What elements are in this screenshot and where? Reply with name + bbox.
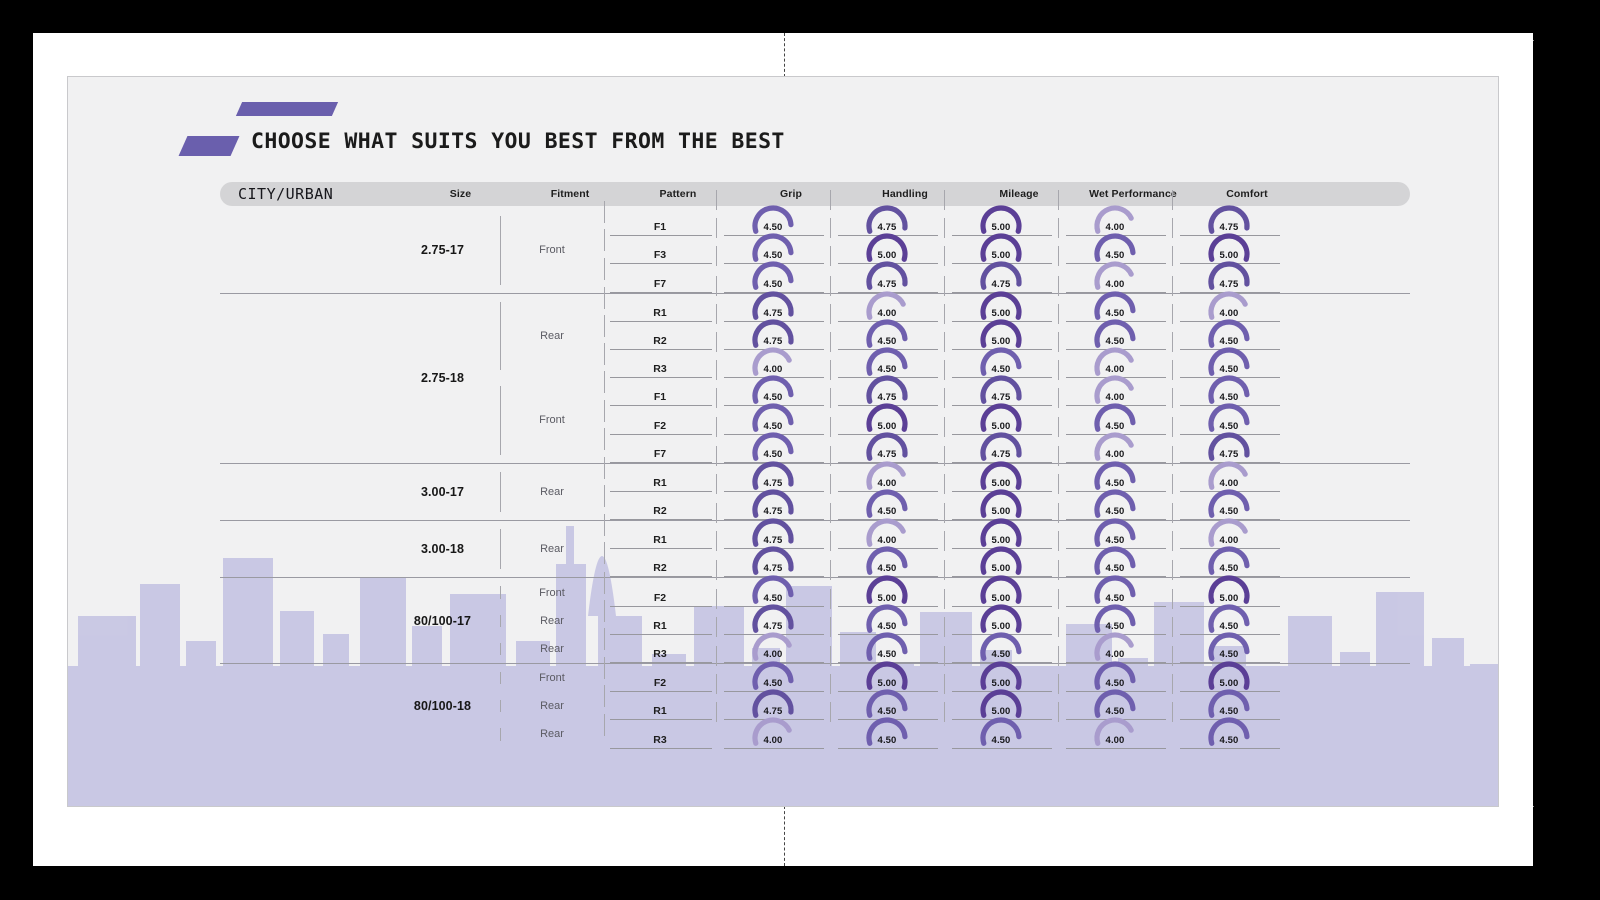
pattern-rows: F14.504.754.754.004.50F24.505.005.004.50… (604, 378, 1410, 463)
page-title: CHOOSE WHAT SUITS YOU BEST FROM THE BEST (251, 129, 785, 154)
pattern-label: F2 (604, 677, 716, 692)
pattern-text: F2 (654, 677, 666, 689)
size-group: 3.00-18RearR14.754.005.004.504.00R24.754… (220, 521, 1410, 577)
fitment-label: Front (500, 664, 604, 692)
pattern-label: F1 (604, 221, 716, 236)
fitment-group: RearR34.004.504.504.004.50 (500, 635, 1410, 663)
screenshot-stage: CHOOSE WHAT SUITS YOU BEST FROM THE BEST… (0, 0, 1600, 900)
score-cell-comfort: 4.50 (1172, 720, 1286, 748)
pattern-text: F2 (654, 592, 666, 604)
size-label: 3.00-18 (385, 542, 500, 556)
pattern-rows: F14.504.755.004.004.75F34.505.005.004.50… (604, 208, 1410, 293)
pattern-label: F1 (604, 391, 716, 406)
category-badge: CITY/URBAN (220, 185, 403, 203)
fitment-group: RearR14.754.005.004.504.00R24.754.505.00… (500, 294, 1410, 379)
pattern-text: R3 (653, 734, 666, 746)
fitment-label: Front (500, 378, 604, 463)
pattern-label: F2 (604, 592, 716, 607)
table-row[interactable]: R34.004.504.504.004.50 (604, 720, 1410, 748)
pattern-rows: R14.754.005.004.504.00R24.754.505.004.50… (604, 521, 1410, 577)
accent-slash-top-icon (236, 102, 338, 116)
artboard: CHOOSE WHAT SUITS YOU BEST FROM THE BEST… (67, 76, 1499, 807)
accent-slash-bottom-icon (179, 136, 240, 156)
size-cell: 2.75-17 (220, 208, 500, 293)
fitment-stack: RearR14.754.005.004.504.00R24.754.505.00… (500, 521, 1410, 577)
pattern-label: R2 (604, 505, 716, 520)
size-cell: 80/100-17 (220, 578, 500, 663)
pattern-text: F7 (654, 278, 666, 290)
pattern-text: R1 (653, 705, 666, 717)
cell-underline (724, 748, 824, 749)
size-label: 2.75-18 (385, 371, 500, 385)
pattern-text: R2 (653, 562, 666, 574)
cell-underline (952, 748, 1052, 749)
cell-underline (610, 748, 712, 749)
pattern-label: R2 (604, 335, 716, 350)
fitment-stack: RearR14.754.005.004.504.00R24.754.505.00… (500, 294, 1410, 463)
score-value: 4.50 (1220, 735, 1239, 746)
fitment-stack: RearR14.754.005.004.504.00R24.754.505.00… (500, 464, 1410, 520)
fitment-label: Rear (500, 692, 604, 720)
pattern-label: R3 (604, 363, 716, 378)
fitment-group: FrontF24.505.005.004.505.00 (500, 664, 1410, 692)
pattern-rows: R14.754.005.004.504.00R24.754.505.004.50… (604, 294, 1410, 379)
comparison-table: CITY/URBANSizeFitmentPatternGripHandling… (220, 182, 1410, 749)
pattern-label: F7 (604, 448, 716, 463)
pattern-label: R1 (604, 477, 716, 492)
fitment-stack: FrontF14.504.755.004.004.75F34.505.005.0… (500, 208, 1410, 293)
pattern-rows: R14.754.005.004.504.00R24.754.505.004.50… (604, 464, 1410, 520)
fitment-group: RearR14.754.505.004.504.50 (500, 607, 1410, 635)
pattern-text: R1 (653, 477, 666, 489)
size-label: 2.75-17 (385, 243, 500, 257)
fitment-label: Rear (500, 464, 604, 520)
pattern-label: F2 (604, 420, 716, 435)
cell-underline (838, 748, 938, 749)
size-group: 2.75-17FrontF14.504.755.004.004.75F34.50… (220, 208, 1410, 293)
fitment-group: RearR14.754.505.004.504.50 (500, 692, 1410, 720)
pattern-label: R1 (604, 534, 716, 549)
pattern-text: R1 (653, 620, 666, 632)
pattern-label: R2 (604, 562, 716, 577)
cell-underline (1066, 748, 1166, 749)
size-group: 3.00-17RearR14.754.005.004.504.00R24.754… (220, 464, 1410, 520)
column-header-comfort: Comfort (1190, 188, 1304, 200)
score-value: 4.00 (1106, 735, 1125, 746)
pattern-text: F2 (654, 420, 666, 432)
fitment-group: RearR14.754.005.004.504.00R24.754.505.00… (500, 521, 1410, 577)
pattern-label: R1 (604, 620, 716, 635)
size-cell: 3.00-18 (220, 521, 500, 577)
score-cell-wet-performance: 4.00 (1058, 720, 1172, 748)
fitment-group: FrontF14.504.754.754.004.50F24.505.005.0… (500, 378, 1410, 463)
pattern-label: R3 (604, 734, 716, 749)
pattern-text: R2 (653, 505, 666, 517)
size-cell: 3.00-17 (220, 464, 500, 520)
fitment-label: Rear (500, 607, 604, 635)
pattern-text: R1 (653, 534, 666, 546)
fitment-label: Rear (500, 521, 604, 577)
pattern-text: R2 (653, 335, 666, 347)
pattern-text: F1 (654, 391, 666, 403)
column-header-fitment: Fitment (518, 188, 622, 200)
size-label: 3.00-17 (385, 485, 500, 499)
size-group: 80/100-17FrontF24.505.005.004.505.00Rear… (220, 578, 1410, 663)
pattern-text: F3 (654, 249, 666, 261)
score-value: 4.50 (992, 735, 1011, 746)
column-header-size: Size (403, 188, 518, 200)
size-cell: 80/100-18 (220, 664, 500, 749)
pattern-rows: R34.004.504.504.004.50 (604, 720, 1410, 748)
score-cell-handling: 4.50 (830, 720, 944, 748)
pattern-label: F3 (604, 249, 716, 264)
pattern-text: F7 (654, 448, 666, 460)
size-cell: 2.75-18 (220, 294, 500, 463)
pattern-label: R1 (604, 705, 716, 720)
fitment-group: RearR34.004.504.504.004.50 (500, 720, 1410, 748)
size-label: 80/100-17 (385, 614, 500, 628)
pattern-text: R3 (653, 363, 666, 375)
pattern-label: F7 (604, 278, 716, 293)
pattern-text: R1 (653, 307, 666, 319)
table-body: 2.75-17FrontF14.504.755.004.004.75F34.50… (220, 208, 1410, 749)
pattern-text: F1 (654, 221, 666, 233)
fold-line-bottom (784, 806, 785, 866)
fitment-label: Rear (500, 720, 604, 748)
cell-underline (1180, 748, 1280, 749)
score-cell-grip: 4.00 (716, 720, 830, 748)
fitment-group: RearR14.754.005.004.504.00R24.754.505.00… (500, 464, 1410, 520)
fitment-label: Rear (500, 294, 604, 379)
pattern-label: R1 (604, 307, 716, 322)
column-header-pattern: Pattern (622, 188, 734, 200)
score-cell-mileage: 4.50 (944, 720, 1058, 748)
fitment-label: Rear (500, 635, 604, 663)
pattern-text: R3 (653, 648, 666, 660)
pattern-label: R3 (604, 648, 716, 663)
size-label: 80/100-18 (385, 699, 500, 713)
size-group: 80/100-18FrontF24.505.005.004.505.00Rear… (220, 664, 1410, 749)
fitment-group: FrontF24.505.005.004.505.00 (500, 578, 1410, 606)
fitment-group: FrontF14.504.755.004.004.75F34.505.005.0… (500, 208, 1410, 293)
fitment-stack: FrontF24.505.005.004.505.00RearR14.754.5… (500, 664, 1410, 749)
score-value: 4.00 (764, 735, 783, 746)
fitment-label: Front (500, 208, 604, 293)
fold-line-top (784, 33, 785, 77)
fitment-label: Front (500, 578, 604, 606)
score-value: 4.50 (878, 735, 897, 746)
size-group: 2.75-18RearR14.754.005.004.504.00R24.754… (220, 294, 1410, 463)
fitment-stack: FrontF24.505.005.004.505.00RearR14.754.5… (500, 578, 1410, 663)
